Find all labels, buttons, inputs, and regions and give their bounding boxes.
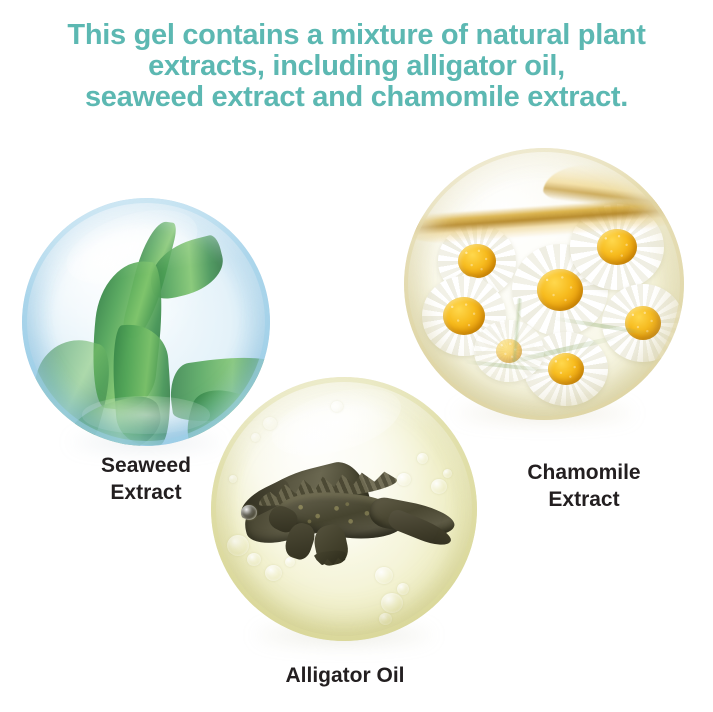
chamomile-extract-label: Chamomile Extract xyxy=(462,459,706,513)
alligator-oil-sphere xyxy=(211,377,477,641)
headline-line-2: extracts, including alligator oil, xyxy=(8,51,705,82)
headline-line-1: This gel contains a mixture of natural p… xyxy=(8,20,705,51)
ingredient-infographic: This gel contains a mixture of natural p… xyxy=(0,0,713,712)
alligator-oil-label: Alligator Oil xyxy=(214,662,476,689)
headline-line-3: seaweed extract and chamomile extract. xyxy=(8,82,705,113)
alligator-oil-sphere-group xyxy=(211,377,477,641)
seaweed-extract-label: Seaweed Extract xyxy=(16,452,276,506)
page-title: This gel contains a mixture of natural p… xyxy=(8,20,705,113)
sphere-rim xyxy=(211,377,477,641)
